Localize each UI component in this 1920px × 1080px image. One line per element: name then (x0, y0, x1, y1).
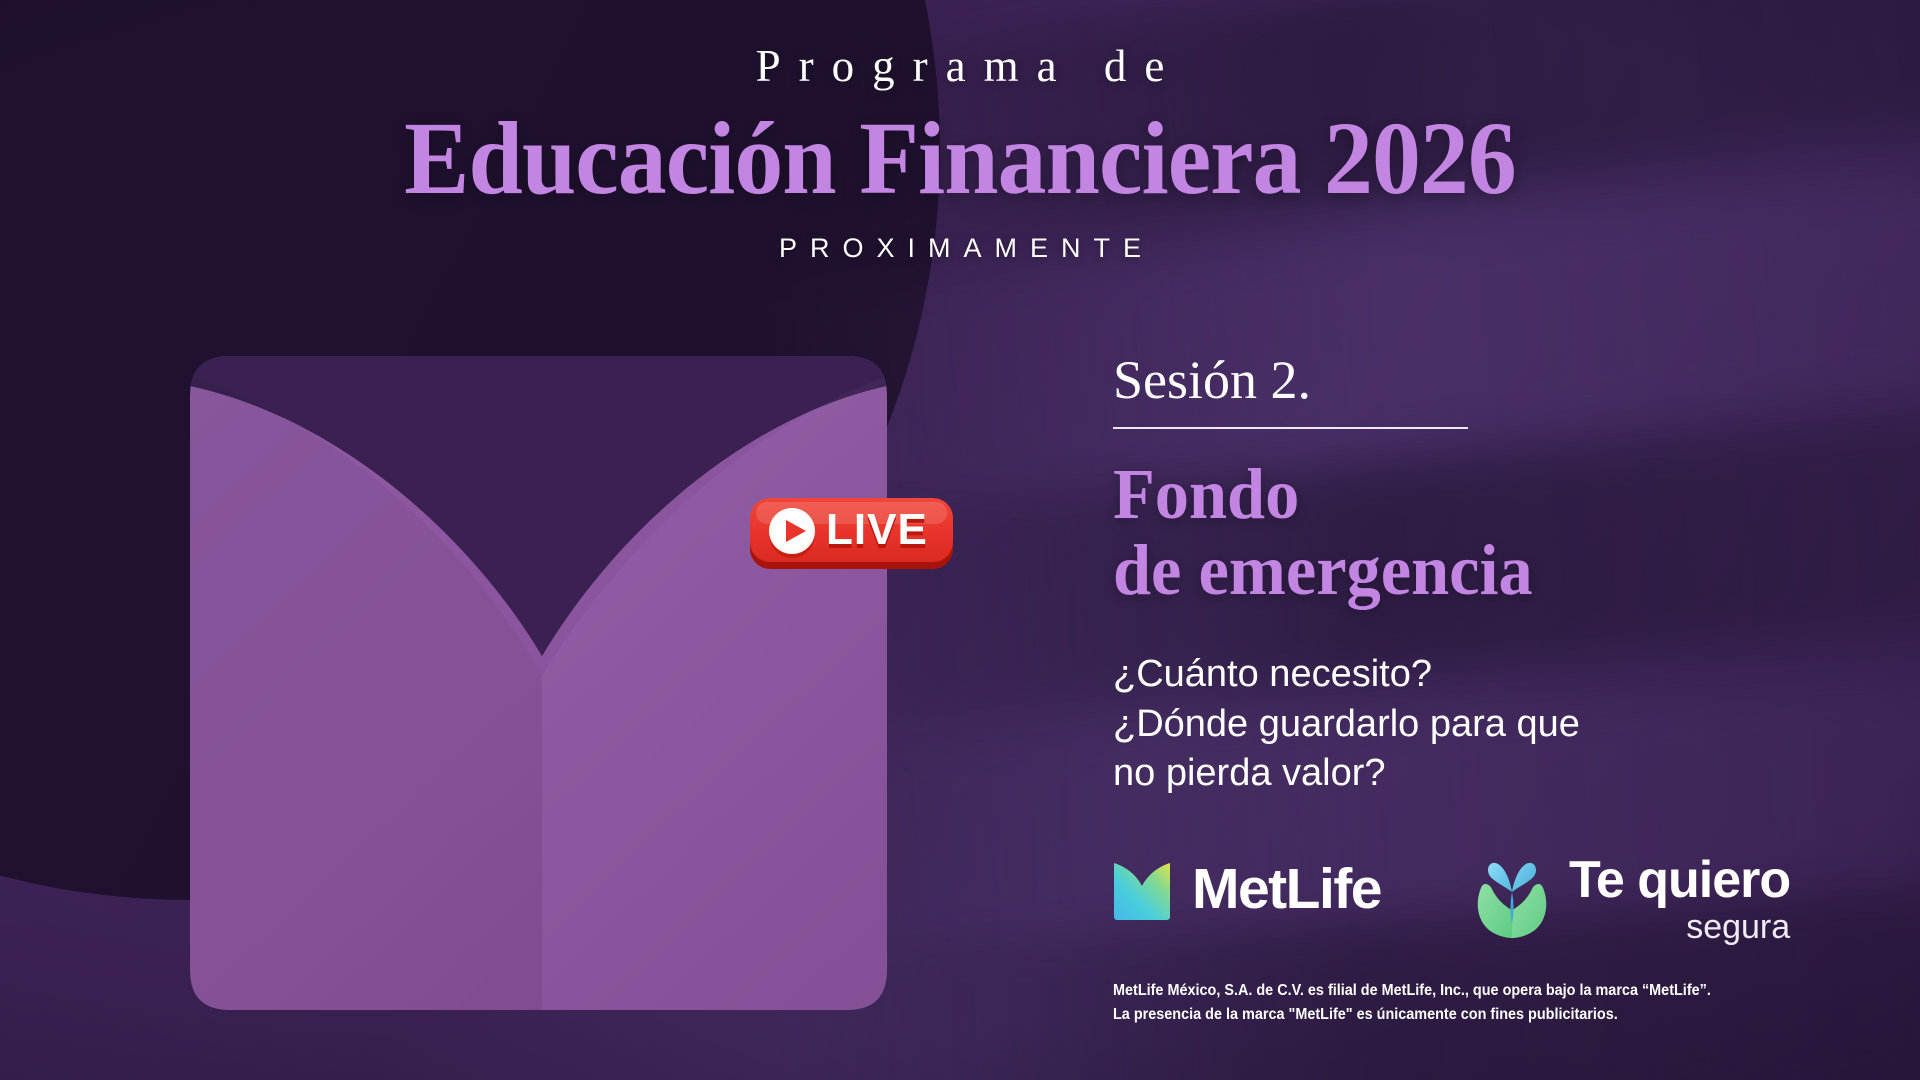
session-info-block: Sesión 2. Fondo de emergencia ¿Cuánto ne… (1113, 352, 1873, 798)
disclaimer-line-1: MetLife México, S.A. de C.V. es filial d… (1113, 979, 1711, 1003)
program-kicker: Programa de (18, 44, 1920, 89)
tqs-line-1: Te quiero (1569, 854, 1790, 906)
session-questions: ¿Cuánto necesito? ¿Dónde guardarlo para … (1113, 650, 1873, 798)
page-title: Educación Financiera 2026 (58, 107, 1863, 211)
tqs-line-2: segura (1569, 910, 1790, 944)
coming-soon-label: PROXIMAMENTE (13, 233, 1920, 264)
metlife-m-graphic (190, 356, 887, 1010)
session-divider (1113, 427, 1468, 429)
session-title-line-1: Fondo (1113, 456, 1835, 532)
legal-disclaimer: MetLife México, S.A. de C.V. es filial d… (1113, 979, 1711, 1028)
te-quiero-segura-logo: Te quiero segura (1471, 854, 1790, 944)
metlife-wordmark: MetLife (1192, 861, 1381, 918)
question-line-2: ¿Dónde guardarlo para que (1113, 700, 1873, 749)
hands-tulip-icon (1471, 858, 1553, 940)
session-title-line-2: de emergencia (1113, 532, 1835, 608)
svg-text:LIVE: LIVE (826, 505, 928, 554)
metlife-m-icon (1113, 858, 1171, 920)
question-line-3: no pierda valor? (1113, 749, 1873, 798)
session-title: Fondo de emergencia (1113, 456, 1835, 609)
promo-banner: Programa de Educación Financiera 2026 PR… (0, 0, 1920, 1080)
live-badge[interactable]: LIVE LIVE (744, 492, 959, 574)
logo-row: MetLife (1113, 858, 1790, 944)
metlife-logo: MetLife (1113, 858, 1381, 920)
session-number: Sesión 2. (1113, 352, 1873, 409)
header-block: Programa de Educación Financiera 2026 PR… (0, 44, 1920, 264)
disclaimer-line-2: La presencia de la marca "MetLife" es ún… (1113, 1003, 1711, 1027)
te-quiero-segura-text: Te quiero segura (1569, 854, 1790, 944)
question-line-1: ¿Cuánto necesito? (1113, 650, 1873, 699)
